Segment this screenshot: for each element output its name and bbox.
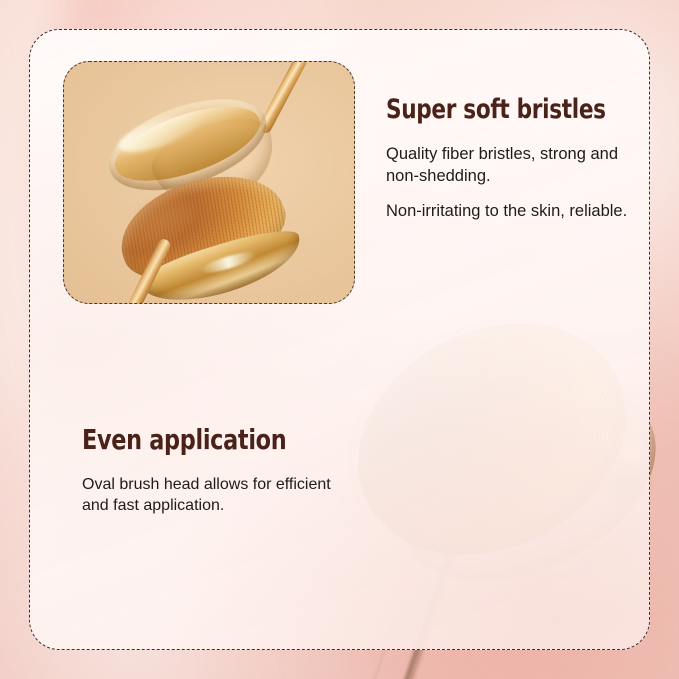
feature-line-non-irritating: Non-irritating to the skin, reliable. bbox=[386, 200, 632, 222]
feature-heading-super-soft-bristles: Super soft bristles bbox=[386, 96, 583, 125]
feature-line-oval-brush-head: Oval brush head allows for efficient and… bbox=[82, 474, 342, 518]
feature-heading-even-application: Even application bbox=[82, 425, 290, 455]
product-infographic: Super soft bristles Quality fiber bristl… bbox=[0, 0, 679, 679]
feature-line-quality-fiber: Quality fiber bristles, strong and non-s… bbox=[386, 143, 632, 188]
two-oval-brush-heads-photo bbox=[63, 61, 355, 304]
feature-block-even-application: Even application Oval brush head allows … bbox=[82, 425, 342, 517]
feature-block-super-soft-bristles: Super soft bristles Quality fiber bristl… bbox=[386, 96, 632, 223]
inset-photo-stage bbox=[64, 62, 354, 303]
